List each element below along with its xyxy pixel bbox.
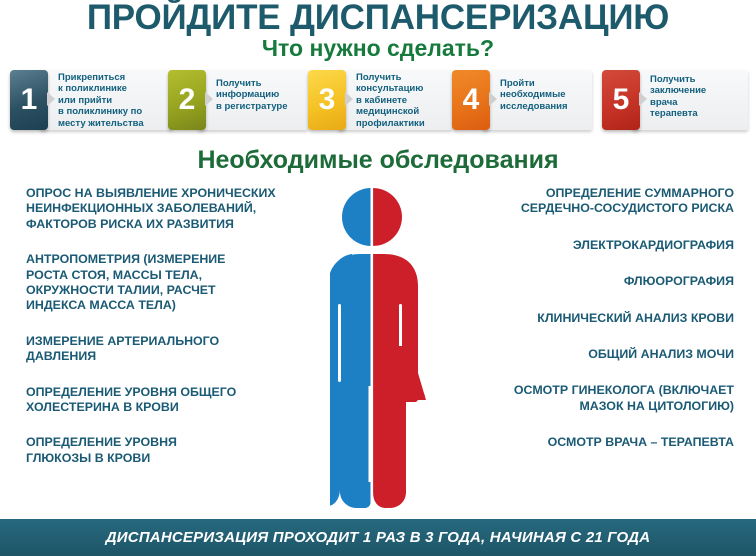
step-1[interactable]: 1 Прикрепиться к поликлинике или прийти …: [10, 66, 170, 136]
step-2-number: 2: [179, 83, 196, 117]
exam-item: КЛИНИЧЕСКИЙ АНАЛИЗ КРОВИ: [434, 311, 734, 326]
exam-item: ФЛЮОРОГРАФИЯ: [434, 274, 734, 289]
exam-item: ОСМОТР ГИНЕКОЛОГА (ВКЛЮЧАЕТ МАЗОК НА ЦИТ…: [434, 383, 734, 414]
step-5-arrow-icon: [639, 92, 647, 106]
male-female-pictogram: [330, 186, 460, 516]
exam-item: ОПРОС НА ВЫЯВЛЕНИЕ ХРОНИЧЕСКИХ НЕИНФЕКЦИ…: [26, 186, 344, 232]
exam-item: АНТРОПОМЕТРИЯ (ИЗМЕРЕНИЕ РОСТА СТОЯ, МАС…: [26, 252, 344, 314]
step-1-arrow-icon: [47, 92, 55, 106]
exam-item: ОПРЕДЕЛЕНИЕ УРОВНЯ ОБЩЕГО ХОЛЕСТЕРИНА В …: [26, 385, 344, 416]
step-5-number: 5: [613, 83, 630, 117]
step-5-number-box: 5: [602, 70, 640, 130]
female-figure-half: [373, 188, 426, 508]
step-4-arrow-icon: [489, 92, 497, 106]
step-4-number-box: 4: [452, 70, 490, 130]
step-1-number-box: 1: [10, 70, 48, 130]
step-4[interactable]: 4 Пройти необходимые исследования: [452, 66, 590, 136]
step-3-arrow-icon: [345, 92, 353, 106]
step-3-number: 3: [319, 83, 336, 117]
bottom-banner-text: ДИСПАНСЕРИЗАЦИЯ ПРОХОДИТ 1 РАЗ В 3 ГОДА,…: [106, 529, 650, 546]
exams-right-column: ОПРЕДЕЛЕНИЕ СУММАРНОГО СЕРДЕЧНО-СОСУДИСТ…: [434, 186, 734, 472]
infographic-poster: ПРОЙДИТЕ ДИСПАНСЕРИЗАЦИЮ Что нужно сдела…: [0, 0, 756, 556]
exam-item: ИЗМЕРЕНИЕ АРТЕРИАЛЬНОГО ДАВЛЕНИЯ: [26, 334, 344, 365]
step-3-number-box: 3: [308, 70, 346, 130]
exams-left-column: ОПРОС НА ВЫЯВЛЕНИЕ ХРОНИЧЕСКИХ НЕИНФЕКЦИ…: [26, 186, 344, 486]
page-title: ПРОЙДИТЕ ДИСПАНСЕРИЗАЦИЮ: [0, 0, 756, 37]
page-subtitle: Что нужно сделать?: [0, 36, 756, 61]
step-2[interactable]: 2 Получить информацию в регистратуре: [168, 66, 306, 136]
exam-item: ЭЛЕКТРОКАРДИОГРАФИЯ: [434, 238, 734, 253]
steps-strip: 1 Прикрепиться к поликлинике или прийти …: [0, 66, 756, 138]
exam-item: ОСМОТР ВРАЧА – ТЕРАПЕВТА: [434, 435, 734, 450]
step-2-text: Получить информацию в регистратуре: [216, 78, 308, 112]
step-3[interactable]: 3 Получить консультацию в кабинете медиц…: [308, 66, 450, 136]
exam-item: ОПРЕДЕЛЕНИЕ СУММАРНОГО СЕРДЕЧНО-СОСУДИСТ…: [434, 186, 734, 217]
step-2-number-box: 2: [168, 70, 206, 130]
step-1-text: Прикрепиться к поликлинике или прийти в …: [58, 72, 170, 129]
figure-center-divider: [371, 186, 374, 516]
section-title: Необходимые обследования: [0, 146, 756, 174]
male-figure-half: [330, 188, 372, 508]
step-4-number: 4: [463, 83, 480, 117]
step-2-arrow-icon: [205, 92, 213, 106]
step-4-text: Пройти необходимые исследования: [500, 78, 594, 112]
step-5-text: Получить заключение врача терапевта: [650, 74, 746, 120]
exam-item: ОБЩИЙ АНАЛИЗ МОЧИ: [434, 347, 734, 362]
step-5[interactable]: 5 Получить заключение врача терапевта: [602, 66, 748, 136]
exam-item: ОПРЕДЕЛЕНИЕ УРОВНЯ ГЛЮКОЗЫ В КРОВИ: [26, 435, 344, 466]
step-3-text: Получить консультацию в кабинете медицин…: [356, 72, 452, 129]
step-1-number: 1: [21, 83, 38, 117]
pictogram-svg: [330, 186, 460, 516]
bottom-banner: ДИСПАНСЕРИЗАЦИЯ ПРОХОДИТ 1 РАЗ В 3 ГОДА,…: [0, 519, 756, 556]
